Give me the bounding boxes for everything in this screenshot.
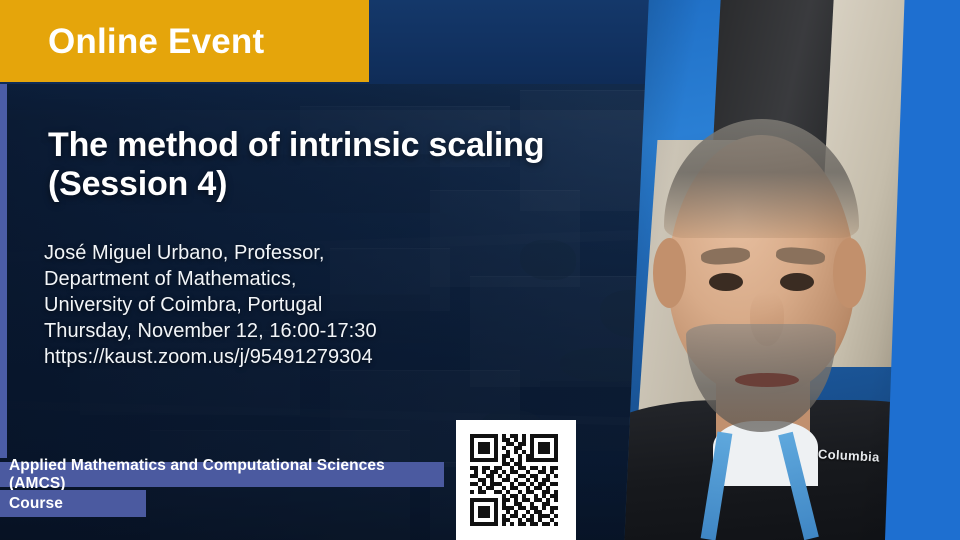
detail-department: Department of Mathematics,	[44, 266, 377, 292]
qr-code[interactable]	[466, 430, 566, 530]
detail-speaker: José Miguel Urbano, Professor,	[44, 240, 377, 266]
online-event-label: Online Event	[0, 24, 264, 59]
tag-event-type: Course	[0, 490, 146, 517]
event-poster: Online Event The method of intrinsic sca…	[0, 0, 960, 540]
tag-department-label: Applied Mathematics and Computational Sc…	[9, 457, 444, 493]
tag-event-type-label: Course	[9, 495, 63, 513]
event-details: José Miguel Urbano, Professor, Departmen…	[44, 240, 377, 370]
detail-affiliation: University of Coimbra, Portugal	[44, 292, 377, 318]
detail-zoom-link[interactable]: https://kaust.zoom.us/j/95491279304	[44, 344, 377, 370]
detail-datetime: Thursday, November 12, 16:00-17:30	[44, 318, 377, 344]
tag-department: Applied Mathematics and Computational Sc…	[0, 462, 444, 487]
left-accent-rail	[0, 84, 7, 458]
qr-code-panel[interactable]	[456, 420, 576, 540]
page-title: The method of intrinsic scaling (Session…	[48, 126, 608, 204]
online-event-banner: Online Event	[0, 0, 369, 82]
